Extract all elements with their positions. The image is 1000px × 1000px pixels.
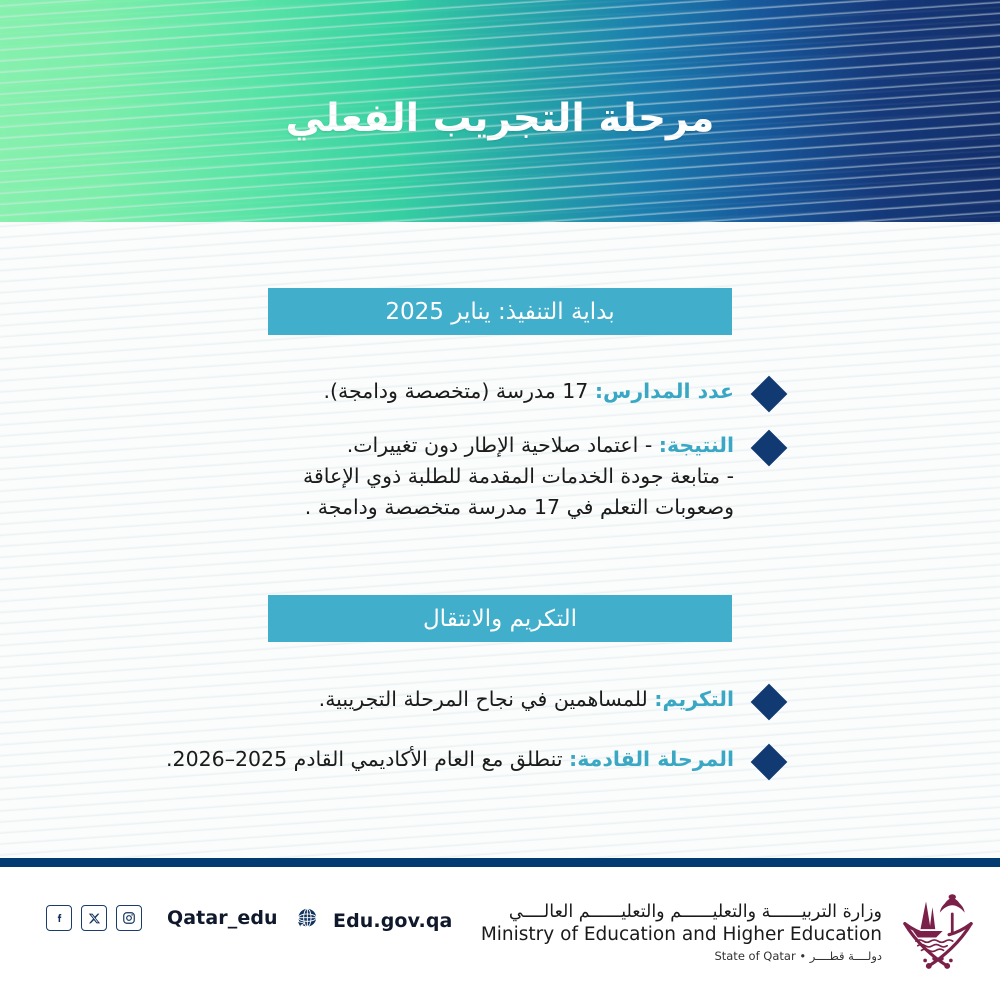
bullet-label-schools-count: عدد المدارس: (595, 379, 734, 403)
bullet-text-schools-count: عدد المدارس: 17 مدرسة (متخصصة ودامجة). (162, 376, 734, 407)
bullet-value-next-phase: تنطلق مع العام الأكاديمي القادم 2025–202… (166, 747, 569, 771)
bullet-row-next-phase: المرحلة القادمة: تنطلق مع العام الأكاديم… (162, 744, 782, 775)
bullet-value-schools-count: 17 مدرسة (متخصصة ودامجة). (323, 379, 594, 403)
bullet-label-honoring: التكريم: (654, 687, 734, 711)
ministry-name-arabic: وزارة التربيــــــة والتعليــــــم والتع… (481, 902, 882, 924)
bullet-value-honoring: للمساهمين في نجاح المرحلة التجريبية. (319, 687, 655, 711)
x-twitter-icon[interactable] (81, 905, 107, 931)
bullet-value-result: - اعتماد صلاحية الإطار دون تغييرات. (347, 433, 659, 457)
bullet-text-result: النتيجة: - اعتماد صلاحية الإطار دون تغيي… (162, 430, 734, 523)
ministry-logo: وزارة التربيــــــة والتعليــــــم والتع… (481, 885, 984, 981)
bullet-text-honoring: التكريم: للمساهمين في نجاح المرحلة التجر… (162, 684, 734, 715)
qatar-state-emblem-icon (892, 885, 984, 981)
social-links: Qatar_edu (46, 905, 278, 931)
facebook-icon[interactable] (46, 905, 72, 931)
ministry-logo-text: وزارة التربيــــــة والتعليــــــم والتع… (481, 902, 882, 964)
poster-canvas: مرحلة التجريب الفعلي بداية التنفيذ: يناي… (0, 0, 1000, 1000)
diamond-bullet-icon (751, 744, 788, 781)
bullet-label-next-phase: المرحلة القادمة: (569, 747, 734, 771)
bullet-text-next-phase: المرحلة القادمة: تنطلق مع العام الأكاديم… (162, 744, 734, 775)
social-handle-label[interactable]: Qatar_edu (167, 907, 278, 929)
bullet-row-schools-count: عدد المدارس: 17 مدرسة (متخصصة ودامجة). (162, 376, 782, 407)
diamond-bullet-icon (751, 684, 788, 721)
instagram-icon[interactable] (116, 905, 142, 931)
website-url-label[interactable]: Edu.gov.qa (333, 910, 452, 932)
section-band-honoring-transition: التكريم والانتقال (268, 595, 732, 642)
bullet-row-honoring: التكريم: للمساهمين في نجاح المرحلة التجر… (162, 684, 782, 715)
footer-divider (0, 858, 1000, 867)
header-banner: مرحلة التجريب الفعلي (0, 0, 1000, 222)
diamond-bullet-icon (751, 376, 788, 413)
ministry-name-english: Ministry of Education and Higher Educati… (481, 924, 882, 946)
bullet-label-result: النتيجة: (659, 433, 734, 457)
page-title: مرحلة التجريب الفعلي (0, 96, 1000, 142)
bullet-result-subline-2: وصعوبات التعلم في 17 مدرسة متخصصة ودامجة… (162, 492, 734, 523)
bullet-result-subline-1: - متابعة جودة الخدمات المقدمة للطلبة ذوي… (162, 461, 734, 492)
section-band-label: التكريم والانتقال (423, 606, 577, 632)
section-band-label: بداية التنفيذ: يناير 2025 (385, 299, 614, 325)
website-link[interactable]: Edu.gov.qa (293, 905, 452, 936)
bullet-row-result: النتيجة: - اعتماد صلاحية الإطار دون تغيي… (162, 430, 782, 523)
content-area: بداية التنفيذ: يناير 2025 عدد المدارس: 1… (0, 222, 1000, 858)
diamond-bullet-icon (751, 430, 788, 467)
footer: Qatar_edu Edu.gov.qa وزارة ال (0, 867, 1000, 1000)
ministry-state-label: دولــــة قطــــر • State of Qatar (481, 948, 882, 964)
globe-icon (293, 905, 320, 936)
section-band-implementation-start: بداية التنفيذ: يناير 2025 (268, 288, 732, 335)
